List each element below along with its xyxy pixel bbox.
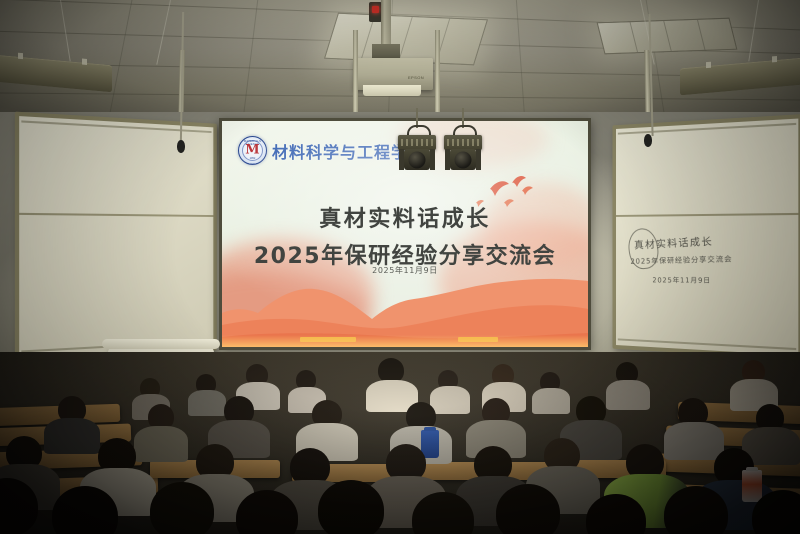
whiteboard-right: 真材实料话成长 2025年保研经验分享交流会 2025年11月9日 (612, 114, 800, 360)
projector-pole (381, 0, 391, 46)
audience-head-foreground (496, 484, 560, 534)
slide-org-name: 材料科学与工程学 (272, 139, 408, 163)
whiteboard-handwriting-line-1: 真材实料话成长 (634, 234, 714, 253)
projector-brand-label: EPSON (408, 75, 424, 80)
audience-body (532, 388, 570, 414)
slide-title-line-1: 真材实料话成长 (222, 201, 588, 233)
water-bottle-orange (742, 470, 762, 502)
mountain-glow (222, 335, 588, 347)
audience-body (664, 422, 724, 460)
emblem-mark: M (245, 143, 259, 156)
audience-body (188, 390, 226, 416)
slide-title-block: 真材实料话成长 2025年保研经验分享交流会 (222, 201, 588, 270)
hanging-microphone-left (177, 140, 185, 153)
audience-body (134, 426, 188, 462)
audience-body (44, 418, 100, 454)
audience-body (606, 380, 650, 410)
audience-head-foreground (318, 480, 384, 534)
whiteboard-handwriting-line-2: 2025年保研经验分享交流会 (630, 253, 732, 266)
slide-logo-row: MATERIALS SCIENCE M 1952 材料科学与工程学 (238, 136, 408, 165)
whiteboard-left (15, 112, 217, 363)
audience-body (430, 386, 470, 414)
university-emblem-icon: MATERIALS SCIENCE M 1952 (238, 136, 267, 165)
ceiling-projector: EPSON (354, 58, 433, 90)
lecture-hall-photo: EPSON 真材实料话成长 2025年保研经验分享交流会 2025年11月9日 (0, 0, 800, 534)
whiteboard-handwriting-line-3: 2025年11月9日 (652, 276, 711, 286)
emblem-year: 1952 (239, 157, 266, 160)
hanging-microphone-right (644, 134, 652, 147)
projector-lens (363, 85, 421, 96)
audience-seating-area (0, 352, 800, 534)
audience-head-foreground (150, 482, 214, 534)
slide-mountain-graphic (222, 273, 588, 347)
